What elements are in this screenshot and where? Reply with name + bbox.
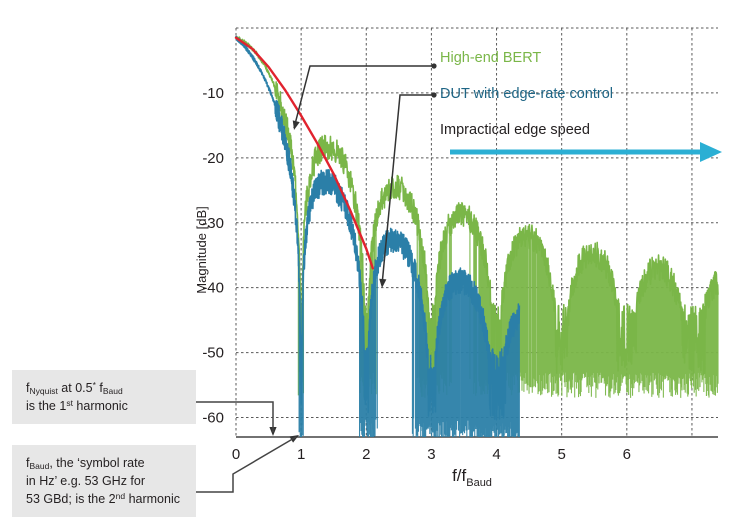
callout-nyquist-note: fNyquist at 0.5* fBaud is the 1st harmon… xyxy=(12,370,196,424)
y-axis-title: Magnitude [dB] xyxy=(194,206,209,293)
callout-baud-line-1: fBaud, the ‘symbol rate xyxy=(26,454,186,472)
legend-item-dut[interactable]: DUT with edge-rate control xyxy=(440,85,613,103)
callout-baud-line-2: in Hz’ e.g. 53 GHz for xyxy=(26,472,186,490)
callout-nyquist-line-1: fNyquist at 0.5* fBaud xyxy=(26,379,186,397)
callout-baud-note: fBaud, the ‘symbol rate in Hz’ e.g. 53 G… xyxy=(12,445,196,517)
x-tick-label: 5 xyxy=(558,446,566,463)
callout-leader-baud xyxy=(196,437,296,492)
x-tick-label: 3 xyxy=(427,446,435,463)
x-tick-label: 2 xyxy=(362,446,370,463)
x-axis-title: f/fBaud xyxy=(452,466,492,489)
leader-dot-dut xyxy=(431,92,436,97)
x-tick-label: 1 xyxy=(297,446,305,463)
chart-figure: 0123456-10-20-30-40-50-60Magnitude [dB]f… xyxy=(0,0,740,527)
y-tick-label: -20 xyxy=(202,150,224,167)
x-tick-label: 0 xyxy=(232,446,240,463)
y-tick-label: -50 xyxy=(202,345,224,362)
callout-baud-line-3: 53 GBd; is the 2nd harmonic xyxy=(26,490,186,508)
y-tick-label: -60 xyxy=(202,410,224,427)
legend-label-impractical: Impractical edge speed xyxy=(440,122,590,138)
callout-nyquist-line-2: is the 1st harmonic xyxy=(26,397,186,415)
y-tick-label: -10 xyxy=(202,85,224,102)
legend-item-impractical[interactable]: Impractical edge speed xyxy=(440,121,590,139)
legend-label-high-end-bert: High-end BERT xyxy=(440,50,541,66)
x-tick-label: 4 xyxy=(492,446,500,463)
legend-item-high-end-bert[interactable]: High-end BERT xyxy=(440,49,541,67)
x-axis-title-sub: Baud xyxy=(466,477,492,489)
legend-label-dut: DUT with edge-rate control xyxy=(440,86,613,102)
leader-dot-high-end-bert xyxy=(431,63,436,68)
x-tick-label: 6 xyxy=(623,446,631,463)
